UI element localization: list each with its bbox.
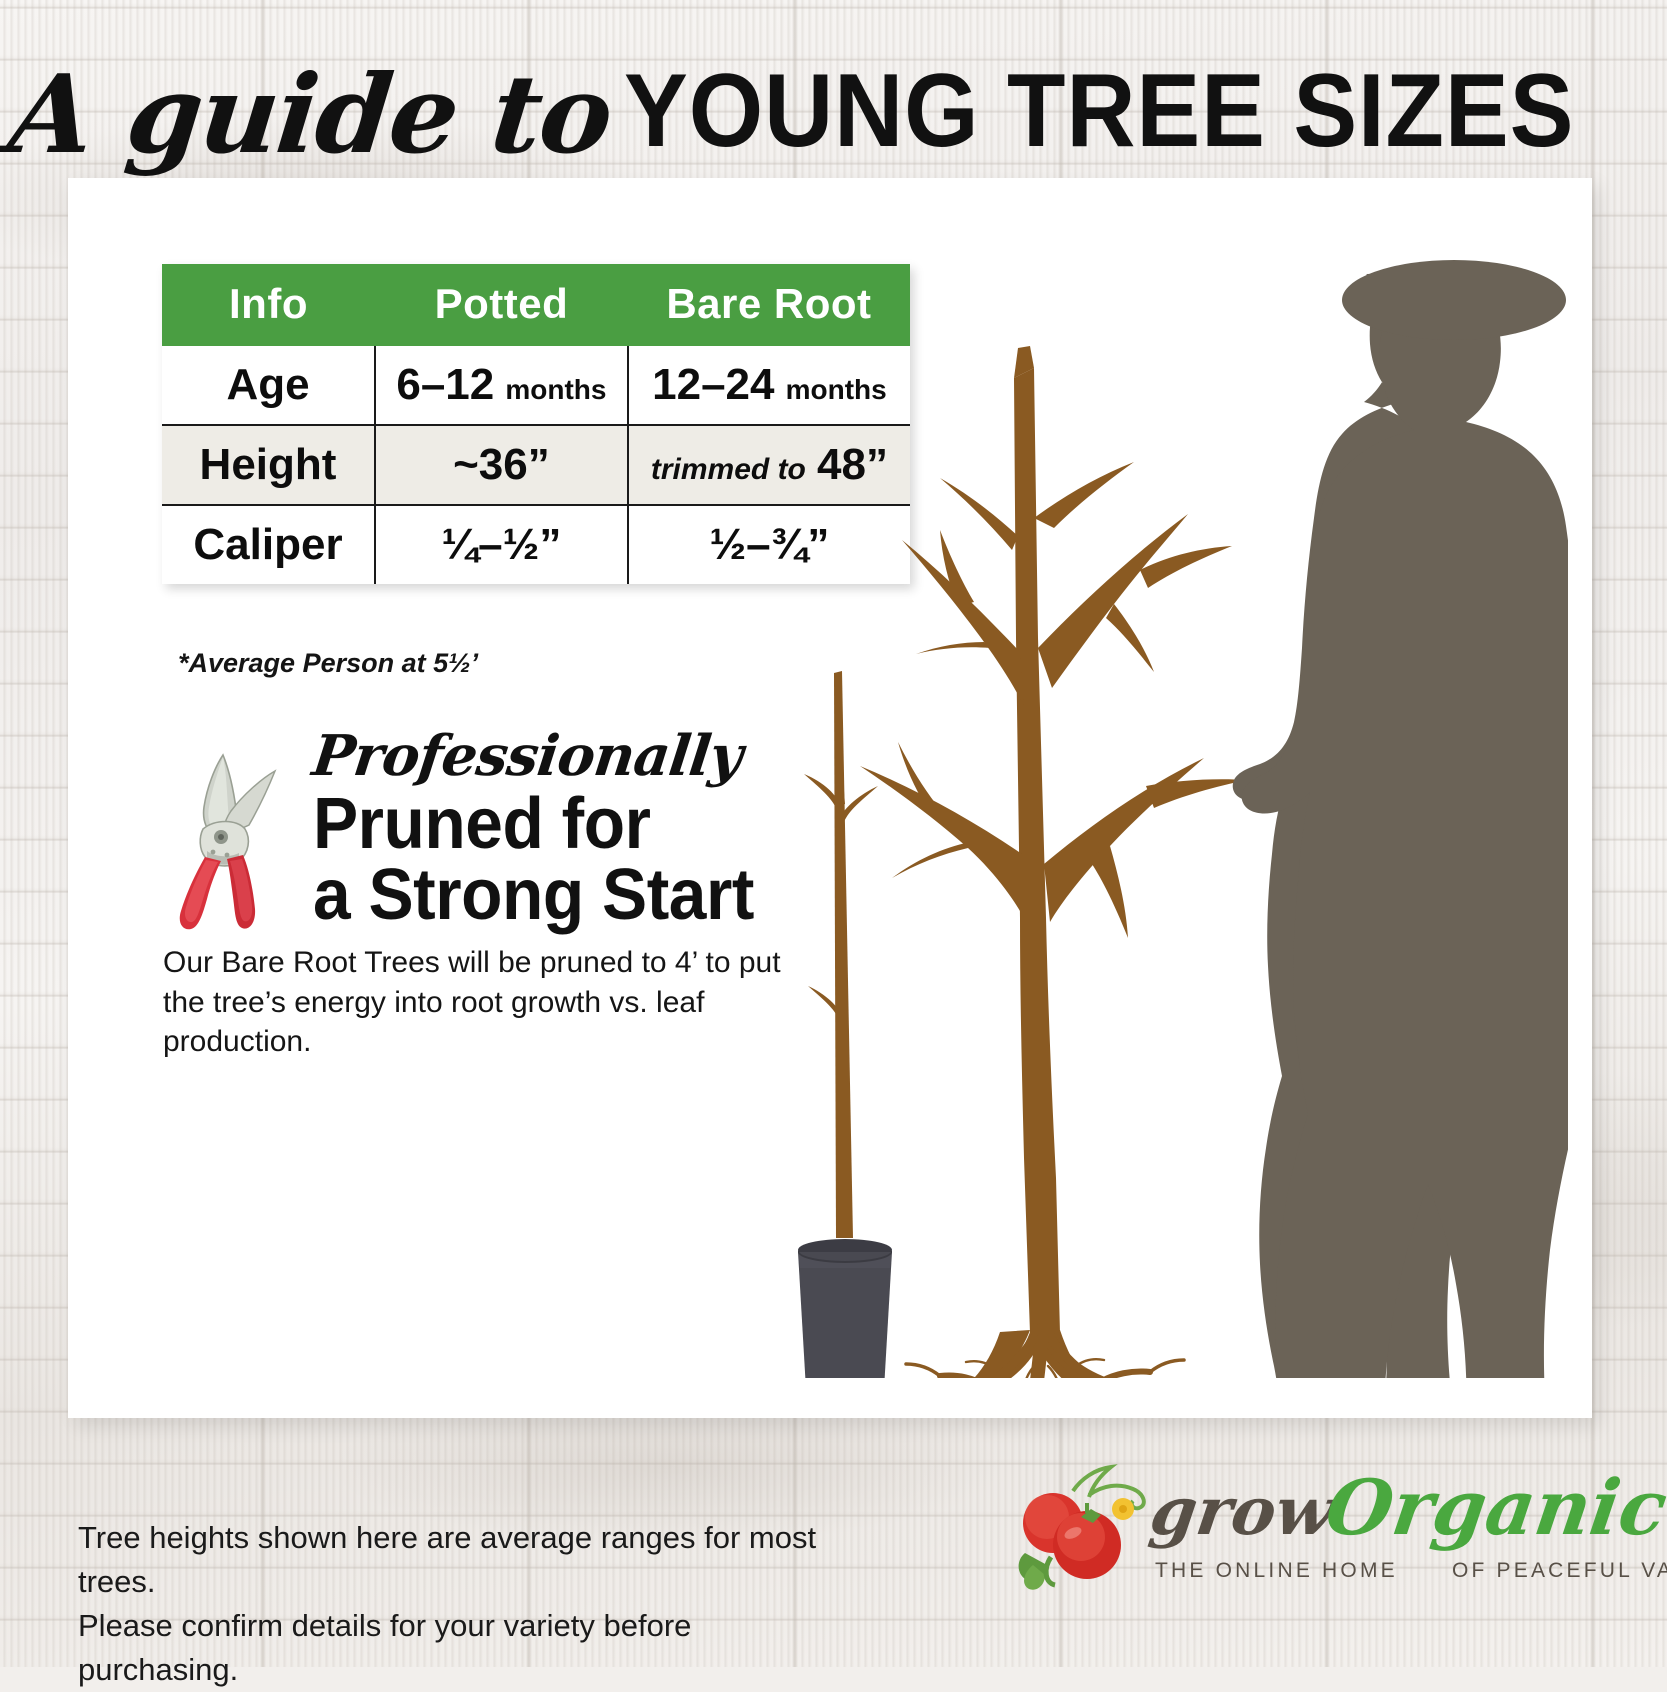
title-script-part: A guide to — [3, 52, 616, 178]
grow-organic-logo[interactable]: growOrganic.COM THE ONLINE HOME OF PEACE… — [1015, 1455, 1575, 1605]
cell-age-potted-number: 6–12 — [396, 360, 494, 409]
logo-grow-text: grow — [1146, 1472, 1339, 1550]
cell-height-potted: ~36” — [375, 425, 628, 505]
footer-disclaimer: Tree heights shown here are average rang… — [78, 1516, 838, 1692]
footer-line1: Tree heights shown here are average rang… — [78, 1516, 838, 1604]
tomato-icon — [1015, 1461, 1155, 1591]
cell-height-potted-number: ~36” — [453, 440, 550, 489]
column-header-potted: Potted — [375, 264, 628, 346]
cell-age-potted-unit: months — [505, 374, 606, 405]
row-label-age: Age — [162, 346, 375, 425]
page-title: A guide toYOUNG TREE SIZES — [0, 52, 1667, 178]
column-header-info: Info — [162, 264, 375, 346]
logo-tagline-right: OF PEACEFUL VALLEY — [1452, 1559, 1667, 1582]
root-system — [874, 1328, 1212, 1378]
row-label-height: Height — [162, 425, 375, 505]
average-person-note: *Average Person at 5½’ — [178, 648, 478, 679]
pruning-shears-icon — [163, 733, 313, 933]
logo-tagline: THE ONLINE HOME OF PEACEFUL VALLEY — [1155, 1559, 1667, 1583]
cell-caliper-potted: ¼–½” — [375, 505, 628, 584]
row-label-caliper: Caliper — [162, 505, 375, 584]
logo-tagline-left: THE ONLINE HOME — [1155, 1559, 1398, 1582]
cell-age-potted: 6–12 months — [375, 346, 628, 425]
tree-size-comparison-illustration — [628, 218, 1568, 1378]
bare-root-tree-illustration — [860, 346, 1248, 1378]
footer-line2: Please confirm details for your variety … — [78, 1604, 838, 1692]
title-block-part: YOUNG TREE SIZES — [624, 52, 1574, 171]
logo-organic-text: Organic — [1321, 1463, 1667, 1552]
person-silhouette — [1233, 260, 1568, 1378]
white-content-card: Info Potted Bare Root Age 6–12 months 12… — [68, 178, 1592, 1418]
cell-caliper-potted-number: ¼–½” — [441, 520, 561, 569]
